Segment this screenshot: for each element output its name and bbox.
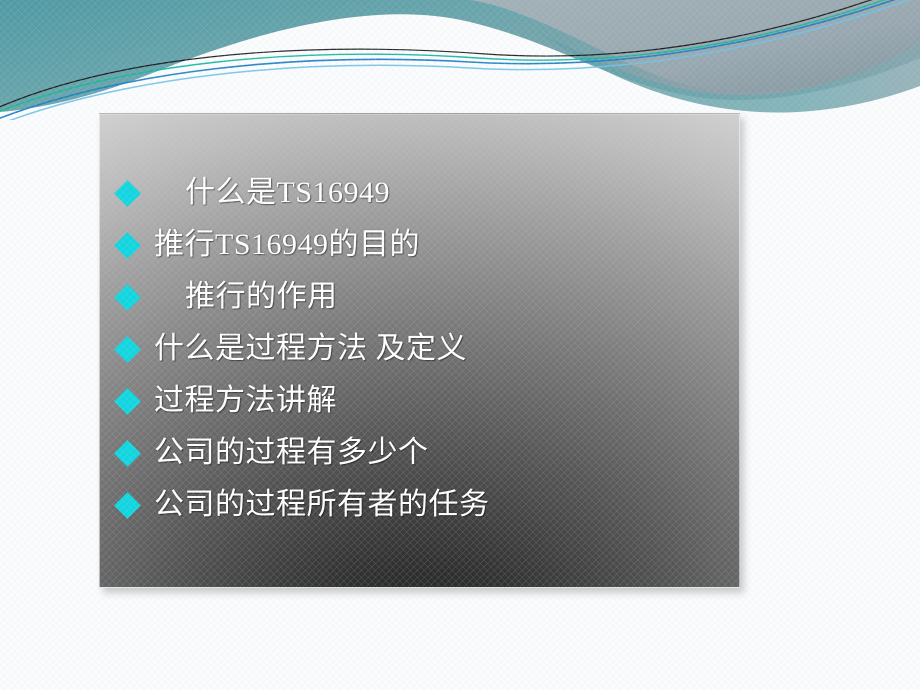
diamond-bullet-icon bbox=[114, 336, 141, 363]
agenda-bullet-list: 什么是TS16949 推行TS16949的目的 推行的作用 什么是过程方法 及定… bbox=[100, 167, 739, 531]
list-item-label: 推行的作用 bbox=[147, 282, 739, 312]
list-item[interactable]: 过程方法讲解 bbox=[100, 375, 739, 427]
list-item[interactable]: 公司的过程所有者的任务 bbox=[100, 479, 739, 531]
presentation-slide: 什么是TS16949 推行TS16949的目的 推行的作用 什么是过程方法 及定… bbox=[0, 0, 920, 690]
list-item[interactable]: 什么是过程方法 及定义 bbox=[100, 323, 739, 375]
wave-banner-art bbox=[0, 0, 920, 120]
list-item-label: 过程方法讲解 bbox=[147, 386, 739, 416]
diamond-bullet-icon bbox=[114, 180, 141, 207]
list-item[interactable]: 推行的作用 bbox=[100, 271, 739, 323]
list-item-label: 推行TS16949的目的 bbox=[147, 230, 739, 260]
diamond-bullet-icon bbox=[114, 492, 141, 519]
list-item-label: 什么是过程方法 及定义 bbox=[147, 334, 739, 364]
list-item-label: 公司的过程所有者的任务 bbox=[147, 490, 739, 520]
list-item[interactable]: 公司的过程有多少个 bbox=[100, 427, 739, 479]
list-item[interactable]: 推行TS16949的目的 bbox=[100, 219, 739, 271]
diamond-bullet-icon bbox=[114, 388, 141, 415]
list-item-label: 公司的过程有多少个 bbox=[147, 438, 739, 468]
diamond-bullet-icon bbox=[114, 284, 141, 311]
list-item-label: 什么是TS16949 bbox=[147, 178, 739, 208]
content-panel: 什么是TS16949 推行TS16949的目的 推行的作用 什么是过程方法 及定… bbox=[99, 113, 740, 588]
list-item[interactable]: 什么是TS16949 bbox=[100, 167, 739, 219]
diamond-bullet-icon bbox=[114, 440, 141, 467]
diamond-bullet-icon bbox=[114, 232, 141, 259]
